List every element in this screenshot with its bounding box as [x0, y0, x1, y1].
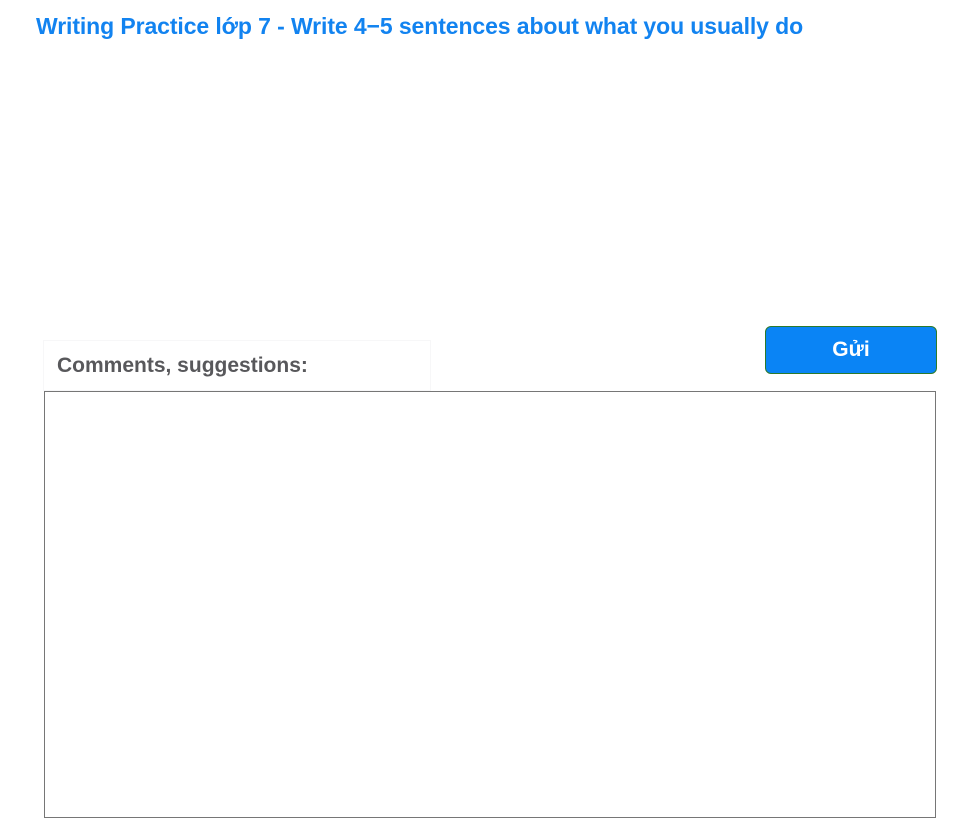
comment-label: Comments, suggestions:: [57, 353, 308, 379]
page-title: Writing Practice lớp 7 - Write 4−5 sente…: [36, 10, 803, 42]
comment-form: Comments, suggestions: Gửi: [0, 322, 967, 836]
submit-button[interactable]: Gửi: [765, 326, 937, 374]
comment-label-box: Comments, suggestions:: [43, 340, 431, 391]
comment-textarea[interactable]: [44, 391, 936, 818]
empty-content-slot: [0, 52, 967, 322]
